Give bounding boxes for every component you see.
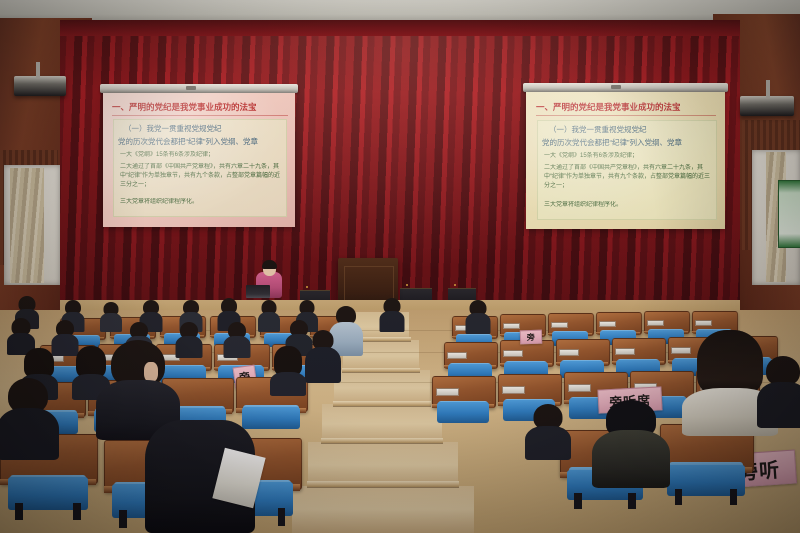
slide-title: 一、严明的党纪是我党事业成功的法宝 xyxy=(536,102,716,113)
presenter-hair xyxy=(262,260,277,269)
wall-notice-board xyxy=(778,180,800,248)
slide-subtitle: （一）我党一贯重视党规党纪 xyxy=(124,124,282,134)
aisle-step xyxy=(307,481,459,487)
av-status-led xyxy=(406,284,408,286)
slide-bullet-2: 二大通过了首部《中国共产党章程》，共有六章二十九条，其中“纪律”作为单独章节，共… xyxy=(120,163,284,191)
projector-mount xyxy=(766,80,770,98)
attendee-hair xyxy=(697,330,763,396)
slide-bullet-2: 二大通过了首部《中国共产党章程》，共有六章二十九条，其中“纪律”作为单独章节，共… xyxy=(544,164,714,192)
attendee xyxy=(466,300,490,332)
curtain-valance xyxy=(60,20,740,36)
screen-roller-case xyxy=(523,83,728,92)
slide-bullet-3: 三大党章将组织纪律程序化。 xyxy=(544,201,714,210)
seat-number-tag xyxy=(695,320,712,326)
slide-title-rule xyxy=(112,115,288,116)
ceiling-projector xyxy=(740,96,794,116)
auditorium-seat xyxy=(432,376,494,424)
slide-lead-line: 党的历次党代会都把“纪律”列入党纲、党章 xyxy=(542,138,714,148)
attendee xyxy=(8,318,34,352)
right-projection-screen: 一、严明的党纪是我党事业成功的法宝 （一）我党一贯重视党规党纪 党的历次党代会都… xyxy=(523,83,728,229)
attendee xyxy=(306,330,340,382)
presenter-laptop xyxy=(246,285,270,298)
attendee xyxy=(0,378,56,456)
seat-number-tag xyxy=(568,384,591,391)
right-screen-canvas: 一、严明的党纪是我党事业成功的法宝 （一）我党一贯重视党规党纪 党的历次党代会都… xyxy=(526,92,725,229)
attendee-face xyxy=(144,362,158,382)
attendee xyxy=(272,346,304,390)
screen-roller-case xyxy=(100,84,298,93)
left-window-drape xyxy=(10,168,44,283)
attendee xyxy=(258,300,280,330)
seat-number-tag xyxy=(436,388,459,395)
projector-mount xyxy=(36,62,40,78)
slide-bullet-1: 一大《党纲》15条有6条涉及纪律； xyxy=(120,151,284,160)
seat-number-tag xyxy=(647,320,664,326)
slide-bullet-3: 三大党章将组织纪律程序化。 xyxy=(120,198,284,207)
seat-number-tag xyxy=(503,323,520,329)
slide-body-panel: （一）我党一贯重视党规党纪 党的历次党代会都把“纪律”列入党纲、党章 一大《党纲… xyxy=(537,120,717,220)
seat-number-tag xyxy=(447,352,467,358)
seat-number-tag xyxy=(502,386,525,393)
ceiling-projector xyxy=(14,76,66,96)
attendee xyxy=(528,404,568,458)
center-aisle xyxy=(292,486,474,533)
attendee xyxy=(224,322,250,356)
seat-sign-observer: 旁 xyxy=(520,330,542,345)
attendee xyxy=(760,356,800,426)
slide-lead-line: 党的历次党代会都把“纪律”列入党纲、党章 xyxy=(118,137,284,147)
aisle-step xyxy=(321,438,443,443)
seat-number-tag xyxy=(551,322,568,328)
slide-subtitle: （一）我党一贯重视党规党纪 xyxy=(549,125,711,135)
screen-case-button xyxy=(611,85,621,89)
attendee xyxy=(596,400,666,488)
av-status-led xyxy=(454,284,456,286)
left-projection-screen: 一、严明的党纪是我党事业成功的法宝 （一）我党一贯重视党规党纪 党的历次党代会都… xyxy=(100,84,298,227)
seat-number-tag xyxy=(615,348,635,354)
left-screen-canvas: 一、严明的党纪是我党事业成功的法宝 （一）我党一贯重视党规党纪 党的历次党代会都… xyxy=(103,93,295,227)
attendee xyxy=(380,298,404,330)
seat-number-tag xyxy=(599,321,616,327)
slide-title-rule xyxy=(536,115,716,116)
seat-number-tag xyxy=(559,349,579,355)
screen-case-button xyxy=(186,86,196,90)
podium-front-panel xyxy=(344,266,394,302)
slide-body-panel: （一）我党一贯重视党规党纪 党的历次党代会都把“纪律”列入党纲、党章 一大《党纲… xyxy=(113,119,287,217)
aisle-step xyxy=(333,401,431,406)
slide-title: 一、严明的党纪是我党事业成功的法宝 xyxy=(112,102,288,113)
attendee xyxy=(176,322,202,356)
auditorium-photo: 一、严明的党纪是我党事业成功的法宝 （一）我党一贯重视党规党纪 党的历次党代会都… xyxy=(0,0,800,533)
slide-bullet-1: 一大《党纲》15条有6条涉及纪律； xyxy=(544,152,714,161)
aisle-step xyxy=(342,368,420,372)
seat-number-tag xyxy=(503,350,523,356)
attendee xyxy=(100,302,122,330)
av-status-led xyxy=(306,286,308,288)
